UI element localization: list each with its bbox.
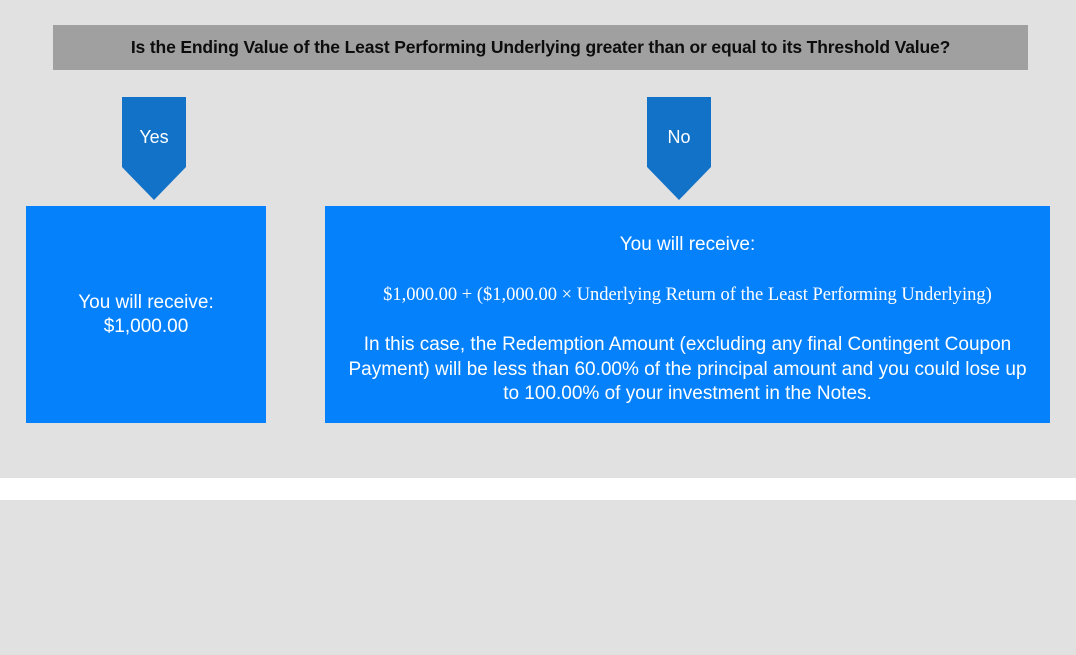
outcome-yes-heading: You will receive: [78,291,214,315]
outcome-box-no: You will receive: $1,000.00 + ($1,000.00… [325,206,1050,423]
branch-arrow-no-label: No [647,128,711,146]
branch-arrow-yes-label: Yes [122,128,186,146]
outcome-yes-amount: $1,000.00 [104,315,189,339]
bottom-section: The Redemption Amount will also include … [0,500,1076,655]
flowchart-canvas: Is the Ending Value of the Least Perform… [0,0,1076,655]
outcome-no-formula: $1,000.00 + ($1,000.00 × Underlying Retu… [383,284,992,306]
section-divider [0,478,1076,500]
question-header-text: Is the Ending Value of the Least Perform… [131,38,950,57]
question-header-bar: Is the Ending Value of the Least Perform… [53,25,1028,70]
outcome-box-yes: You will receive: $1,000.00 [26,206,266,423]
branch-arrow-no: No [647,97,711,200]
top-section: Is the Ending Value of the Least Perform… [0,0,1076,478]
outcome-no-heading: You will receive: [620,234,756,257]
branch-arrow-yes: Yes [122,97,186,200]
outcome-no-note: In this case, the Redemption Amount (exc… [339,333,1036,407]
